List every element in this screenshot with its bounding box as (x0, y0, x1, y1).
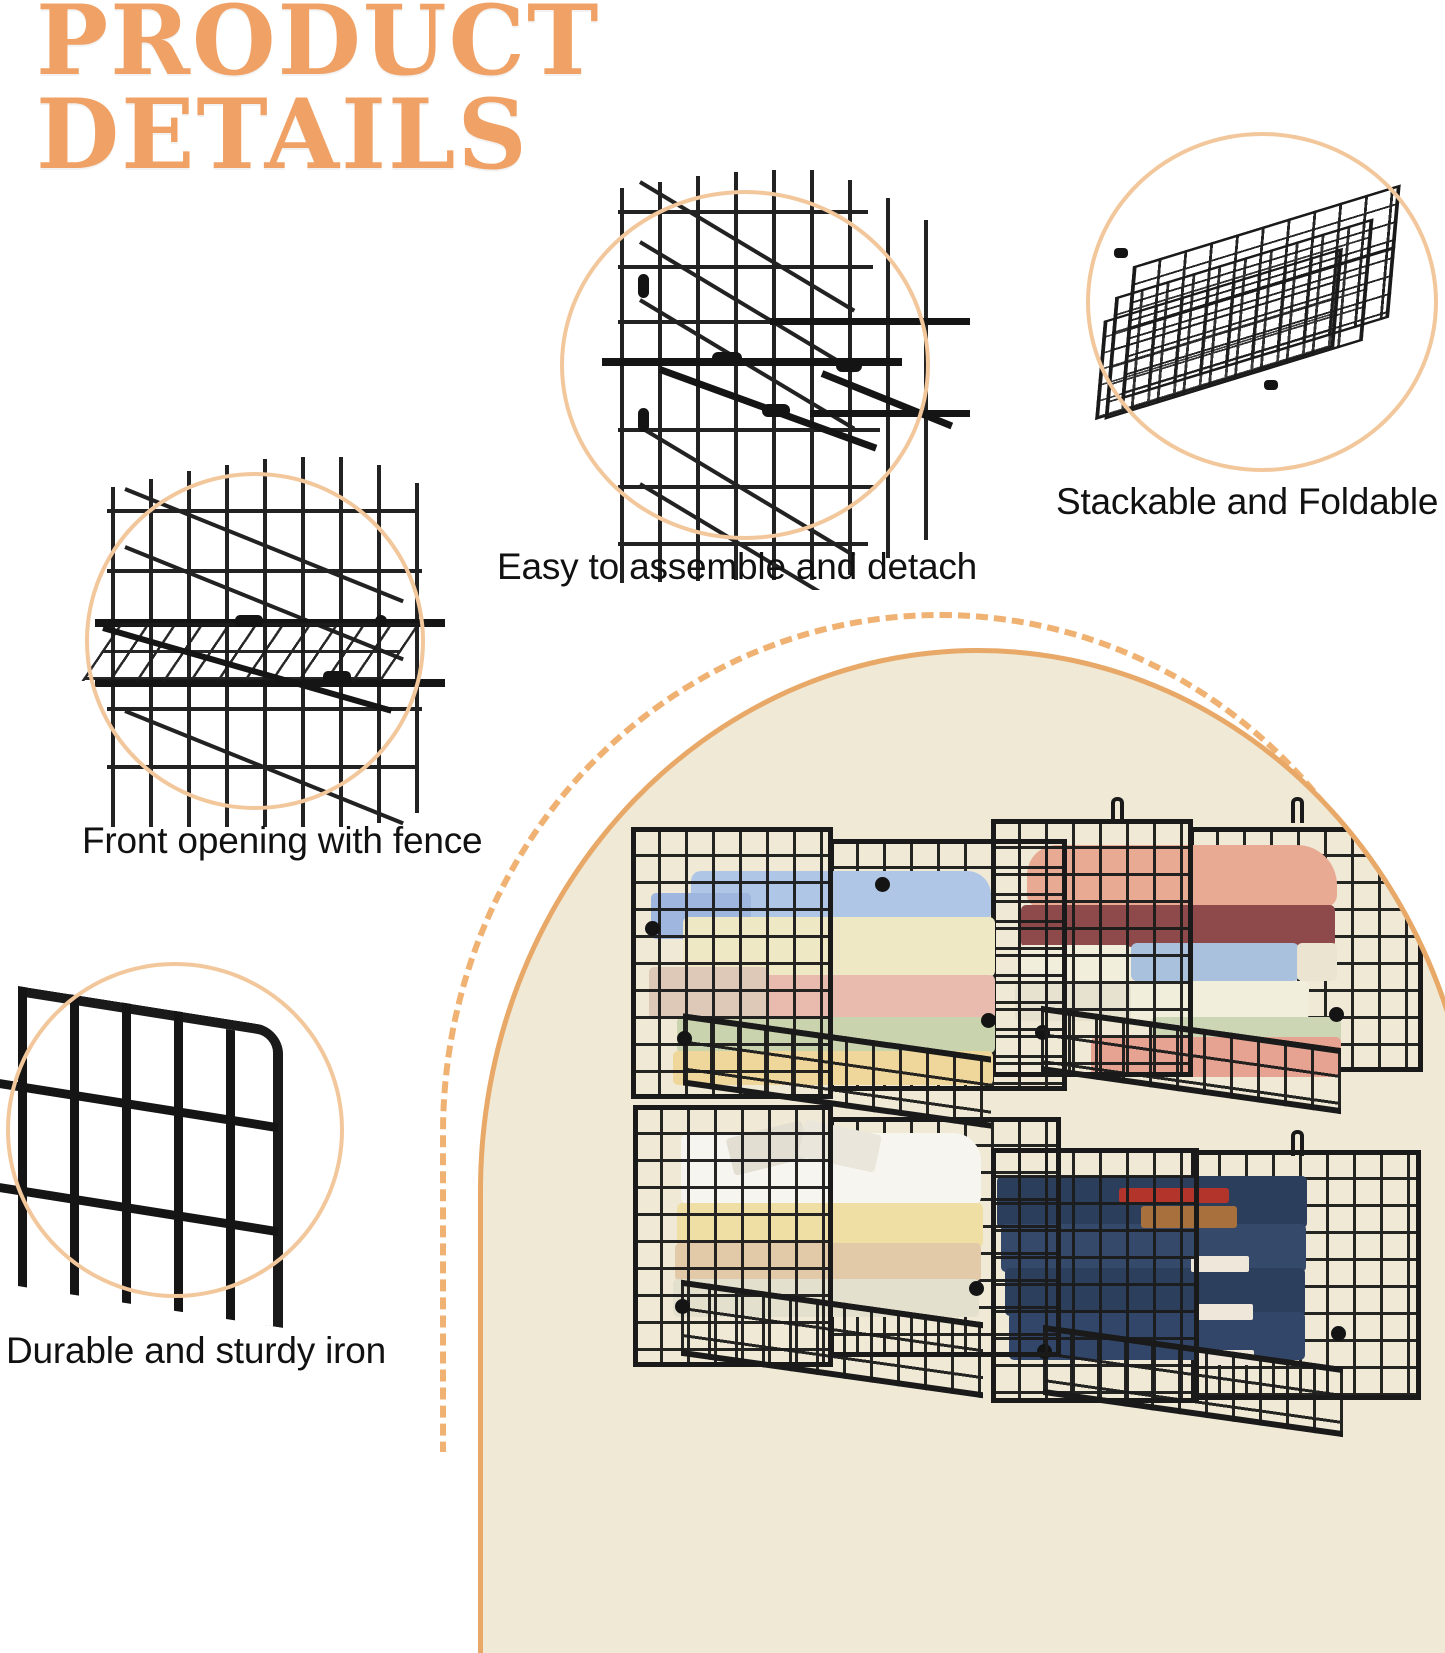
cloth-label (1195, 1304, 1253, 1320)
caption-stackable: Stackable and Foldable (1056, 481, 1438, 523)
basket-top-left (631, 849, 1071, 1169)
cloth-label (1191, 1256, 1249, 1272)
callout-stackable (1086, 132, 1438, 472)
callout-durable (6, 962, 344, 1298)
front-opening-detail-art (85, 472, 425, 810)
caption-durable: Durable and sturdy iron (6, 1330, 386, 1372)
callout-assemble (560, 190, 930, 540)
durable-detail-art (6, 962, 344, 1298)
caption-assemble: Easy to assemble and detach (497, 546, 977, 588)
page-title: PRODUCT DETAILS (36, 0, 676, 182)
basket-bottom-left (633, 1123, 1063, 1443)
main-product-panel (440, 612, 1445, 1462)
infographic-canvas: PRODUCT DETAILS (0, 0, 1445, 1449)
assemble-detail-art (560, 190, 930, 540)
stackable-detail-art (1086, 132, 1438, 472)
caption-front-opening: Front opening with fence (82, 820, 482, 862)
cloth-cream-shirt (1297, 943, 1337, 981)
callout-front-opening (85, 472, 425, 810)
